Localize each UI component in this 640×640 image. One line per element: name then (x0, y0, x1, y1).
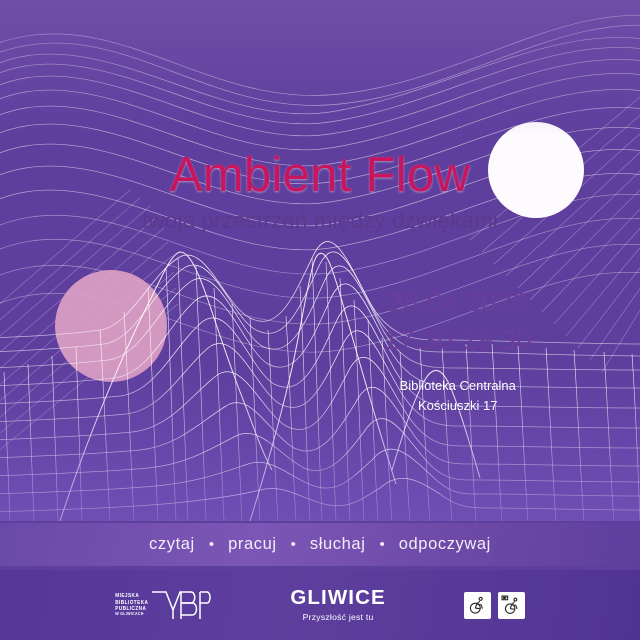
gliwice-claim: Przyszłość jest tu (303, 612, 374, 622)
event-time: 17.30-19.30 (383, 321, 532, 359)
event-info-block: 28.04.2026 17.30-19.30 Biblioteka Centra… (383, 283, 532, 416)
footer-logo-row: MIEJSKA BIBLIOTEKA PUBLICZNA W GLIWICACH (0, 570, 640, 640)
venue-address: Kościuszki 17 (383, 396, 532, 416)
tagline-list: czytaj • pracuj • słuchaj • odpoczywaj (149, 535, 491, 554)
wheelchair-assistance-icon (498, 592, 525, 619)
tagline-word-pracuj: pracuj (228, 535, 277, 554)
tagline-word-odpoczywaj: odpoczywaj (399, 535, 491, 554)
gliwice-wordmark: GLIWICE (290, 588, 385, 609)
mbp-line-w-gliwicach: W GLIWICACH (115, 611, 143, 617)
tagline-bar: czytaj • pracuj • słuchaj • odpoczywaj (0, 523, 640, 566)
wheelchair-accessible-icon (464, 592, 491, 619)
headline-block: Ambient Flow twoja przestrzeń między dźw… (0, 150, 640, 234)
tagline-word-czytaj: czytaj (149, 535, 195, 554)
mbp-monogram-icon (150, 588, 212, 622)
tagline-separator-icon: • (195, 537, 228, 552)
tagline-word-sluchaj: słuchaj (310, 535, 366, 554)
event-poster: Ambient Flow twoja przestrzeń między dźw… (0, 0, 640, 640)
poster-artwork (0, 0, 640, 521)
gliwice-city-logo: GLIWICE Przyszłość jest tu (290, 588, 385, 623)
tagline-separator-icon: • (277, 537, 310, 552)
page-title: Ambient Flow (0, 150, 640, 201)
tagline-separator-icon: • (365, 537, 398, 552)
venue-name: Biblioteka Centralna (383, 376, 532, 396)
event-location: Biblioteka Centralna Kościuszki 17 (383, 376, 532, 416)
accessibility-icons (464, 592, 525, 619)
poster-footer: MIEJSKA BIBLIOTEKA PUBLICZNA W GLIWICACH (0, 570, 640, 640)
wireframe-terrain-decoration (0, 0, 640, 521)
event-date: 28.04.2026 (383, 283, 532, 321)
mbp-library-logo: MIEJSKA BIBLIOTEKA PUBLICZNA W GLIWICACH (115, 588, 212, 622)
mbp-logo-wordmark: MIEJSKA BIBLIOTEKA PUBLICZNA W GLIWICACH (115, 593, 148, 616)
poster-subtitle: twoja przestrzeń między dźwiękami (0, 207, 640, 234)
